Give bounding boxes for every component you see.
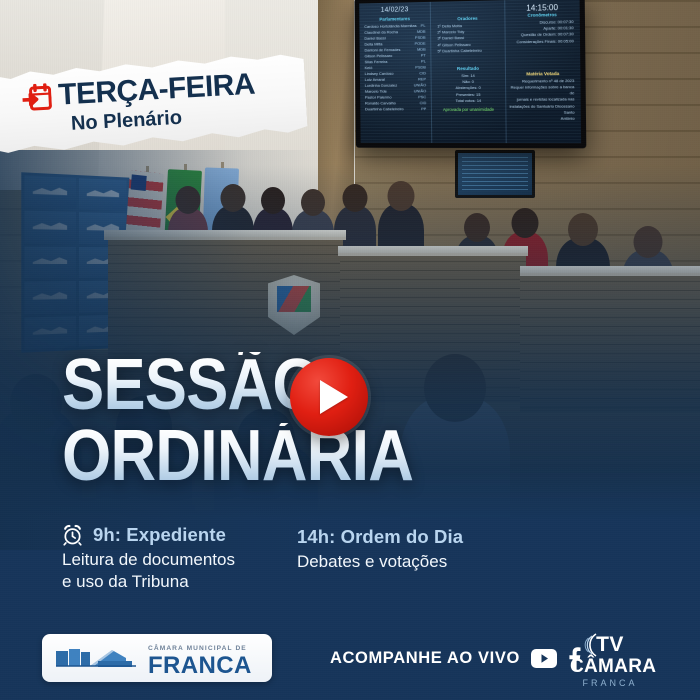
logo-name: FRANCA bbox=[148, 652, 252, 679]
camara-text: CÂMARA bbox=[570, 657, 650, 676]
tv-camara-arc-icon bbox=[570, 632, 650, 658]
schedule-item-ordem-do-dia: 14h: Ordem do Dia Debates e votações bbox=[297, 524, 463, 594]
live-label: ACOMPANHE AO VIVO bbox=[330, 649, 520, 668]
schedule-time-label: 14h: Ordem do Dia bbox=[297, 526, 463, 548]
tv-camara-logo[interactable]: TV CÂMARA FRANCA bbox=[570, 632, 650, 688]
schedule-time-label: 9h: Expediente bbox=[93, 524, 226, 546]
live-call-to-action: ACOMPANHE AO VIVO bbox=[330, 646, 581, 670]
franca-building-icon bbox=[54, 642, 140, 674]
session-schedule: 9h: Expediente Leitura de documentos e u… bbox=[0, 524, 700, 594]
torn-paper-banner: TERÇA-FEIRA No Plenário bbox=[0, 49, 308, 159]
youtube-icon[interactable] bbox=[531, 649, 557, 668]
camara-franca-logo[interactable]: CÂMARA MUNICIPAL DE FRANCA bbox=[42, 634, 272, 682]
schedule-heading: 9h: Expediente bbox=[62, 524, 235, 546]
franca-text: FRANCA bbox=[570, 678, 650, 688]
schedule-description-line: Leitura de documentos bbox=[62, 549, 235, 571]
schedule-item-expediente: 9h: Expediente Leitura de documentos e u… bbox=[62, 524, 235, 594]
schedule-description: Leitura de documentos e uso da Tribuna bbox=[62, 549, 235, 594]
title-line-ordinaria: ORDINÁRIA bbox=[62, 423, 413, 490]
schedule-description-line: Debates e votações bbox=[297, 551, 463, 573]
schedule-description-line: e uso da Tribuna bbox=[62, 571, 235, 593]
schedule-heading: 14h: Ordem do Dia bbox=[297, 526, 463, 548]
page-title: SESSÃO ORDINÁRIA bbox=[62, 352, 461, 490]
alarm-clock-icon bbox=[62, 524, 83, 546]
calendar-arrow-icon bbox=[21, 83, 50, 111]
social-media-poster: 14/02/23 Parlamentares Cardoso Hortolând… bbox=[0, 0, 700, 700]
schedule-description: Debates e votações bbox=[297, 551, 463, 573]
logo-eyebrow: CÂMARA MUNICIPAL DE bbox=[148, 645, 247, 652]
footer-bar: CÂMARA MUNICIPAL DE FRANCA ACOMPANHE AO … bbox=[0, 620, 700, 700]
play-button-icon[interactable] bbox=[290, 358, 368, 436]
